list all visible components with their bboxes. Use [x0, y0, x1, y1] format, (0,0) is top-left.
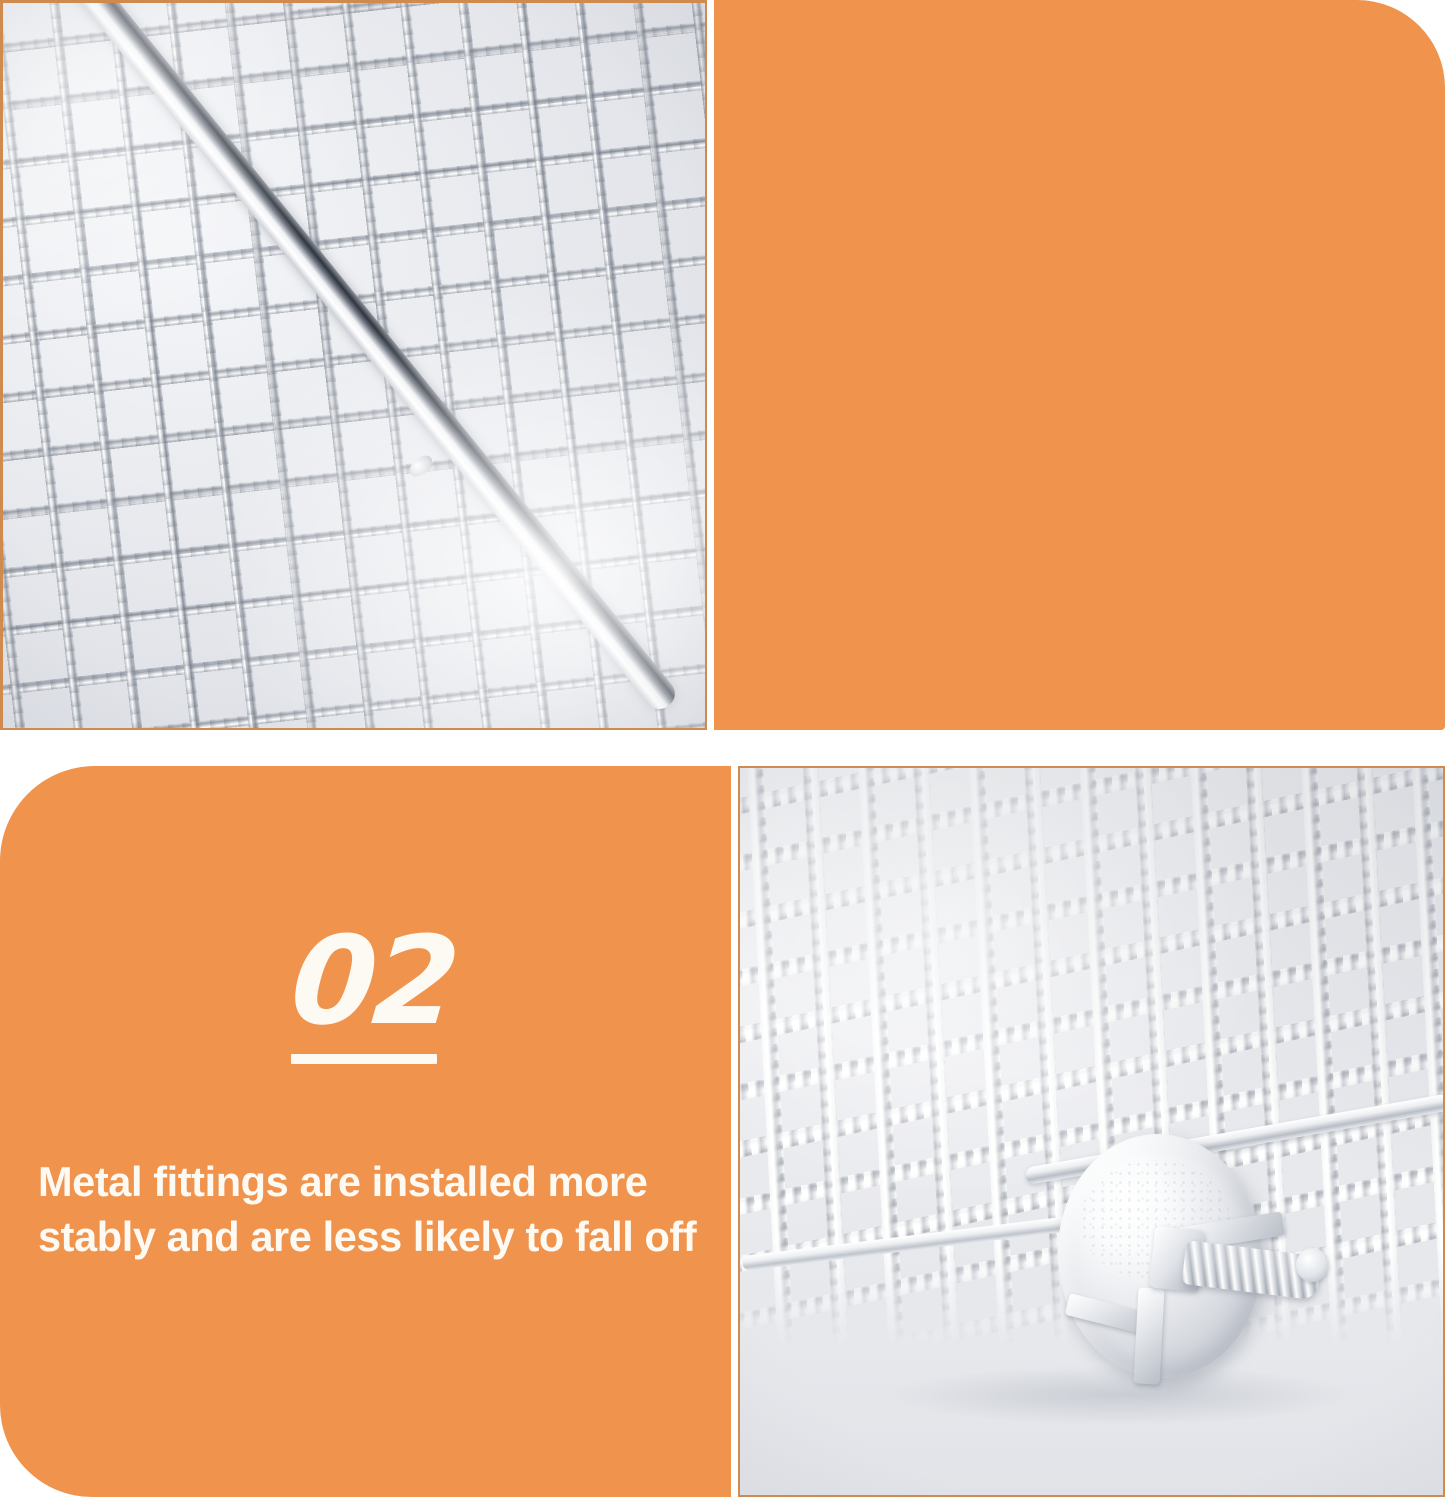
- mesh-fitting-photo: [740, 768, 1443, 1495]
- mesh-corner-photo: [3, 3, 705, 728]
- feature-1-photo-panel: [0, 0, 707, 730]
- product-feature-infographic: 01 The hollowed-out grid design of the s…: [0, 0, 1445, 1497]
- disc-wing-tab-lower: [1134, 1287, 1165, 1384]
- feature-2-number: 02: [287, 920, 461, 1042]
- wire-mesh-grid: [740, 768, 1443, 1495]
- feature-row-1: 01 The hollowed-out grid design of the s…: [0, 0, 1445, 730]
- feature-2-photo-panel: [738, 766, 1445, 1497]
- feature-2-text-panel: 02 Metal fittings are installed more sta…: [0, 766, 731, 1497]
- mesh-crimp-texture: [740, 768, 1443, 1495]
- feature-2-description: Metal fittings are installed more stably…: [38, 1154, 728, 1264]
- feature-row-2: 02 Metal fittings are installed more sta…: [0, 766, 1445, 1497]
- bolt-tip: [1296, 1248, 1328, 1282]
- feature-1-text-panel: 01 The hollowed-out grid design of the s…: [714, 0, 1445, 730]
- feature-2-number-underline: [291, 1054, 437, 1064]
